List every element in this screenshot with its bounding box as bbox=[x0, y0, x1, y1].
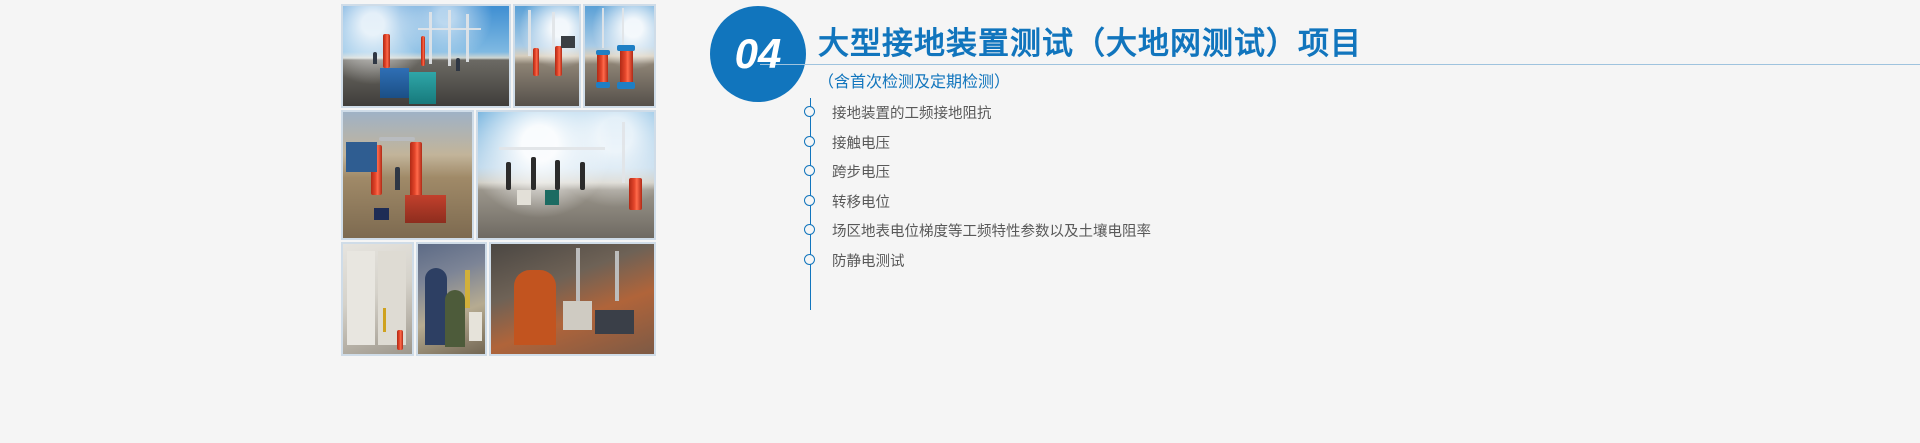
section-number-badge: 04 bbox=[710, 6, 820, 118]
photo-gallery bbox=[341, 4, 656, 356]
page-subtitle: （含首次检测及定期检测） bbox=[818, 68, 1010, 92]
photo-image bbox=[343, 244, 412, 354]
list-item[interactable]: 跨步电压 bbox=[804, 157, 1904, 187]
bullet-circle-icon bbox=[804, 195, 815, 206]
bullet-circle-icon bbox=[804, 224, 815, 235]
list-item[interactable]: 接地装置的工频接地阻抗 bbox=[804, 98, 1904, 128]
bullet-circle-icon bbox=[804, 106, 815, 117]
list-item-label: 跨步电压 bbox=[832, 161, 890, 182]
section-number: 04 bbox=[710, 6, 806, 102]
title-divider bbox=[760, 64, 1920, 65]
page-title: 大型接地装置测试（大地网测试）项目 bbox=[818, 18, 1362, 63]
photo-image bbox=[418, 244, 485, 354]
bullet-circle-icon bbox=[804, 136, 815, 147]
photo-image bbox=[478, 112, 654, 238]
photo-image bbox=[515, 6, 579, 106]
gallery-photo-substation-switchgear-yard[interactable] bbox=[476, 110, 656, 240]
section-banner: 04 大型接地装置测试（大地网测试）项目 （含首次检测及定期检测） 接地装置的工… bbox=[0, 0, 1920, 443]
list-item[interactable]: 接触电压 bbox=[804, 128, 1904, 158]
photo-image bbox=[491, 244, 654, 354]
bullet-circle-icon bbox=[804, 165, 815, 176]
list-item[interactable]: 转移电位 bbox=[804, 187, 1904, 217]
gallery-photo-substation-red-insulators[interactable] bbox=[513, 4, 581, 108]
list-item[interactable]: 场区地表电位梯度等工频特性参数以及土壤电阻率 bbox=[804, 216, 1904, 246]
photo-image bbox=[343, 6, 509, 106]
gallery-photo-substation-blue-red-transformers[interactable] bbox=[583, 4, 656, 108]
gallery-photo-field-worker-instrument[interactable] bbox=[489, 242, 656, 356]
list-item[interactable]: 防静电测试 bbox=[804, 246, 1904, 276]
gallery-photo-resonant-test-set-outdoor[interactable] bbox=[341, 110, 474, 240]
list-item-label: 转移电位 bbox=[832, 191, 890, 212]
list-item-label: 防静电测试 bbox=[832, 250, 905, 271]
feature-timeline-list: 接地装置的工频接地阻抗 接触电压 跨步电压 转移电位 场区地表电位梯度等工频特性… bbox=[804, 98, 1904, 275]
photo-image bbox=[585, 6, 654, 106]
list-item-label: 接触电压 bbox=[832, 132, 890, 153]
bullet-circle-icon bbox=[804, 254, 815, 265]
list-item-label: 接地装置的工频接地阻抗 bbox=[832, 102, 992, 123]
gallery-photo-substation-test-equipment-wide[interactable] bbox=[341, 4, 511, 108]
list-item-label: 场区地表电位梯度等工频特性参数以及土壤电阻率 bbox=[832, 220, 1151, 241]
photo-image bbox=[343, 112, 472, 238]
gallery-photo-engineers-testing-indoor[interactable] bbox=[416, 242, 487, 356]
section-content: 04 大型接地装置测试（大地网测试）项目 （含首次检测及定期检测） 接地装置的工… bbox=[700, 0, 1920, 443]
gallery-photo-indoor-switch-cabinet[interactable] bbox=[341, 242, 414, 356]
